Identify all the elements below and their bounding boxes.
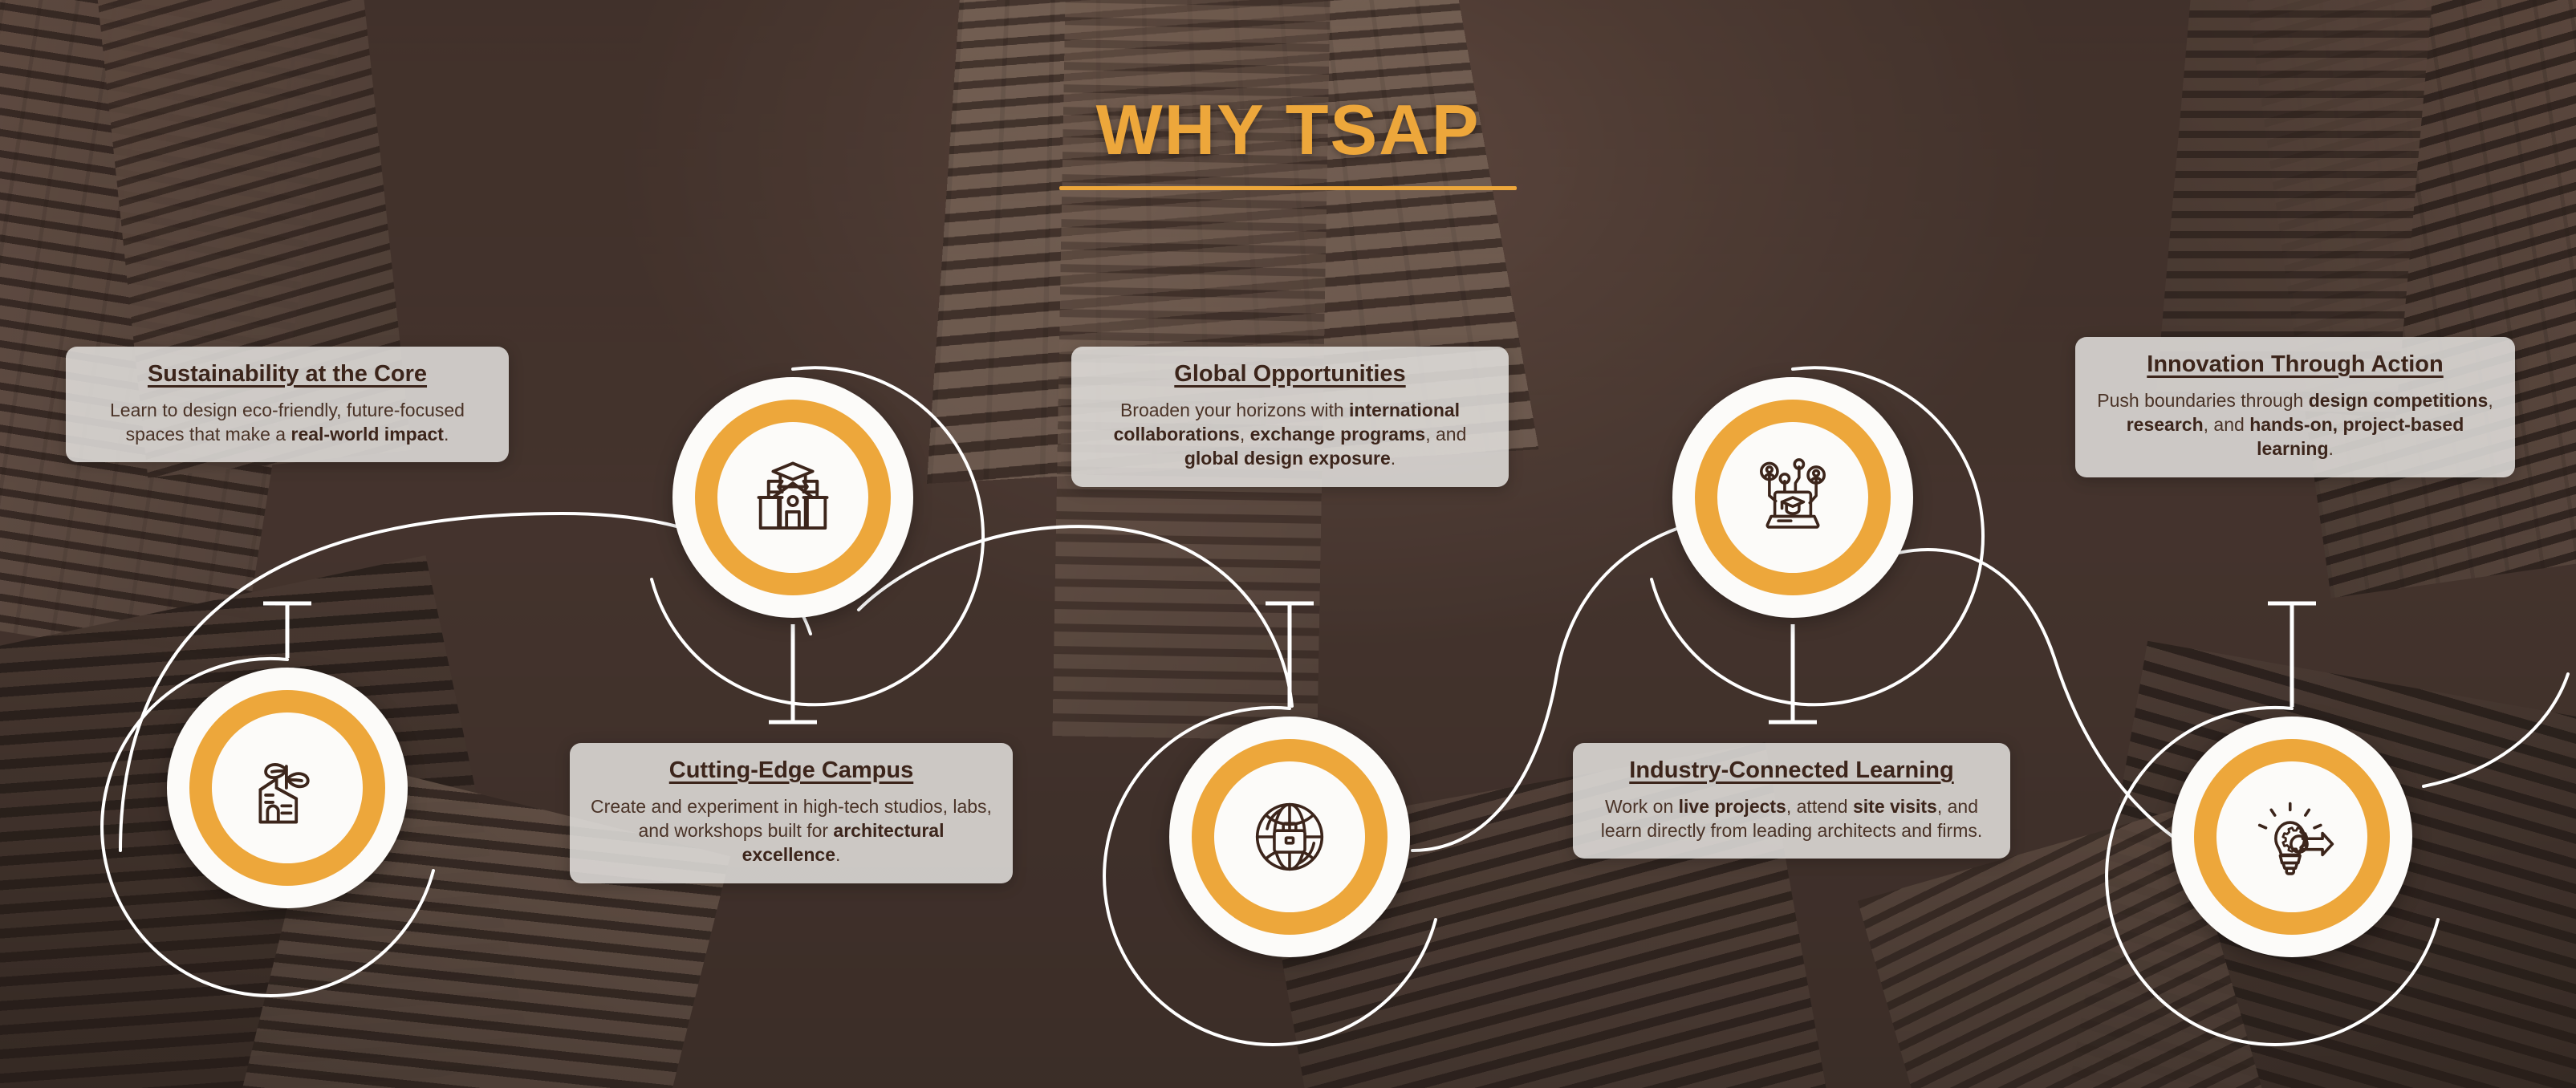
icon-badge-sustainability[interactable]: [167, 668, 408, 908]
campus-building-icon: [748, 453, 838, 542]
badge-inner: [1717, 422, 1868, 573]
card-body: Learn to design eco-friendly, future-foc…: [83, 398, 491, 447]
feature-card-campus[interactable]: Cutting-Edge Campus Create and experimen…: [570, 743, 1013, 883]
badge-inner: [2216, 761, 2367, 912]
card-title: Sustainability at the Core: [83, 361, 491, 388]
badge-inner: [1214, 761, 1365, 912]
card-body: Broaden your horizons with international…: [1089, 398, 1491, 471]
link-curve-2-3: [859, 526, 1292, 706]
eco-building-icon: [242, 743, 332, 833]
card-body: Create and experiment in high-tech studi…: [587, 794, 995, 867]
card-title: Innovation Through Action: [2093, 351, 2497, 379]
page-title-block: WHY TSAP: [0, 95, 2576, 190]
icon-badge-global[interactable]: [1169, 717, 1410, 957]
feature-card-global[interactable]: Global Opportunities Broaden your horizo…: [1071, 347, 1509, 487]
badge-inner: [212, 712, 363, 863]
infographic-canvas: WHY TSAP Sustainability at the Core Lear…: [0, 0, 2576, 1088]
feature-card-industry[interactable]: Industry-Connected Learning Work on live…: [1573, 743, 2010, 859]
page-title: WHY TSAP: [1096, 95, 1481, 165]
link-curve-tail: [2424, 674, 2568, 786]
icon-badge-innovation[interactable]: [2172, 717, 2412, 957]
card-body: Push boundaries through design competiti…: [2093, 388, 2497, 461]
networked-learning-icon: [1748, 453, 1838, 542]
title-underline-rule: [1059, 186, 1517, 190]
card-body: Work on live projects, attend site visit…: [1591, 794, 1993, 843]
globe-briefcase-icon: [1245, 792, 1335, 882]
icon-badge-campus[interactable]: [672, 377, 913, 618]
lightbulb-gear-arrow-icon: [2247, 792, 2337, 882]
card-title: Industry-Connected Learning: [1591, 757, 1993, 785]
icon-badge-industry[interactable]: [1672, 377, 1913, 618]
feature-card-sustainability[interactable]: Sustainability at the Core Learn to desi…: [66, 347, 509, 462]
card-title: Cutting-Edge Campus: [587, 757, 995, 785]
feature-card-innovation[interactable]: Innovation Through Action Push boundarie…: [2075, 337, 2515, 477]
card-title: Global Opportunities: [1089, 361, 1491, 388]
badge-inner: [717, 422, 868, 573]
